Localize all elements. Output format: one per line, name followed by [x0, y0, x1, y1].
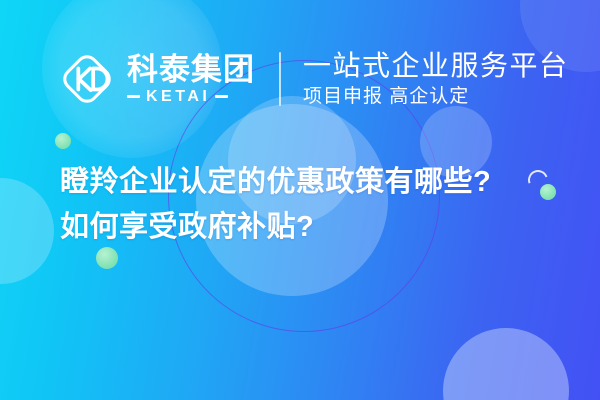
headline-line-2: 如何享受政府补贴?	[60, 205, 580, 250]
headline-block: 瞪羚企业认定的优惠政策有哪些? 如何享受政府补贴?	[60, 160, 580, 250]
ketai-diamond-kd-logo-icon	[56, 48, 118, 110]
left-edge-circle	[0, 178, 54, 284]
tagline-sub: 项目申报 高企认定	[303, 85, 569, 108]
promo-banner: 科泰集团 KETAI 一站式企业服务平台 项目申报 高企认定 瞪羚企业认定的优惠…	[0, 0, 600, 400]
rule-right-icon	[215, 95, 228, 98]
bottom-right-circle	[443, 328, 569, 400]
header-divider	[279, 52, 281, 106]
brand-name-cn: 科泰集团	[127, 53, 255, 86]
brand-name-en: KETAI	[146, 88, 210, 105]
brand-header: 科泰集团 KETAI 一站式企业服务平台 项目申报 高企认定	[56, 44, 569, 114]
headline-line-1: 瞪羚企业认定的优惠政策有哪些?	[60, 160, 580, 205]
brand-wordmark: 科泰集团 KETAI	[127, 53, 255, 105]
rule-left-icon	[127, 95, 140, 98]
tagline-block: 一站式企业服务平台 项目申报 高企认定	[303, 50, 569, 108]
green-dot-upper-left	[55, 133, 71, 149]
brand-name-en-row: KETAI	[127, 88, 255, 105]
tagline-main: 一站式企业服务平台	[303, 50, 569, 82]
green-dot-lower-left	[96, 247, 118, 269]
